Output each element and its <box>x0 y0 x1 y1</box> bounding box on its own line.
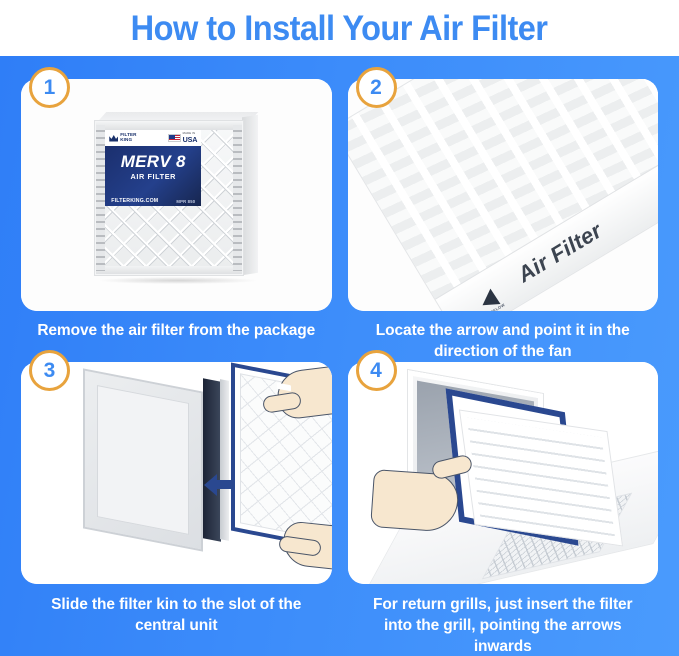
filter-box-side <box>242 115 258 276</box>
rating-text: MPR 850 <box>176 199 195 204</box>
step-3: 3 <box>21 350 332 656</box>
filter-edge-right <box>233 125 242 271</box>
step-4: 4 For return grills, just <box>348 350 659 656</box>
central-unit-inner-panel <box>97 385 189 535</box>
filter-shadow <box>100 277 256 284</box>
filter-slot-lip <box>220 379 229 541</box>
label-footer: FILTERKING.COM MPR 850 <box>105 198 201 204</box>
crown-icon <box>109 135 118 142</box>
product-label: FILTER KING MADE IN USA <box>105 130 201 206</box>
filter-box-face: FILTER KING MADE IN USA <box>94 120 244 276</box>
label-subtitle: AIR FILTER <box>111 172 195 181</box>
filter-slot <box>203 378 221 541</box>
step-1-badge: 1 <box>29 67 70 108</box>
air-filter-product-photo: FILTER KING MADE IN USA <box>21 79 332 311</box>
step-3-badge: 3 <box>29 350 70 391</box>
brand-lockup: FILTER KING <box>109 133 136 143</box>
step-1-caption: Remove the air filter from the package <box>21 311 332 342</box>
step-2-card: AIRFLOW Air Filter <box>348 79 659 311</box>
filter-rail-bottom <box>96 266 242 274</box>
return-grill-illustration <box>348 362 659 584</box>
step-2: 2 AIRFLOW Air Filter <box>348 56 659 350</box>
angled-filter: AIRFLOW Air Filter <box>348 79 659 311</box>
grill-louver-slats <box>466 418 614 539</box>
step-4-badge: 4 <box>356 350 397 391</box>
page-title: How to Install Your Air Filter <box>131 11 548 46</box>
label-body: MERV 8 AIR FILTER FILTERKING.COM MPR 850 <box>105 146 201 206</box>
step-1: 1 <box>21 56 332 350</box>
brand-line-2: KING <box>120 137 132 142</box>
filter-edge-left <box>96 125 105 271</box>
step-3-caption: Slide the filter kin to the slot of the … <box>21 584 332 637</box>
made-in-usa: MADE IN USA <box>168 133 198 143</box>
step-2-badge: 2 <box>356 67 397 108</box>
step-3-card <box>21 362 332 584</box>
brand-text: FILTER KING <box>120 133 136 143</box>
step-4-caption: For return grills, just insert the filte… <box>348 584 659 656</box>
angled-air-filter-photo: AIRFLOW Air Filter <box>348 79 659 311</box>
central-unit-face <box>83 368 203 551</box>
filter-rail-top <box>96 122 242 130</box>
hand-holding-grill <box>370 469 460 533</box>
title-bar: How to Install Your Air Filter <box>0 0 679 56</box>
step-1-card: FILTER KING MADE IN USA <box>21 79 332 311</box>
filter-box: FILTER KING MADE IN USA <box>94 112 258 278</box>
merv-rating: MERV 8 <box>111 153 195 170</box>
website-text: FILTERKING.COM <box>111 198 158 204</box>
insert-direction-arrow-icon <box>204 474 234 496</box>
step-4-card <box>348 362 659 584</box>
country-label: USA <box>183 136 198 143</box>
grill-louver-door <box>458 409 622 546</box>
central-unit <box>83 380 203 540</box>
infographic-page: How to Install Your Air Filter 1 <box>0 0 679 656</box>
airflow-arrow-icon <box>481 288 500 305</box>
slide-filter-illustration <box>21 362 332 584</box>
usa-text: MADE IN USA <box>183 133 198 143</box>
angled-filter-body: AIRFLOW Air Filter <box>348 79 659 311</box>
label-header: FILTER KING MADE IN USA <box>105 130 201 146</box>
us-flag-icon <box>168 134 181 142</box>
return-filter-arrow-tag-icon <box>391 419 406 429</box>
steps-grid: 1 <box>0 56 679 656</box>
